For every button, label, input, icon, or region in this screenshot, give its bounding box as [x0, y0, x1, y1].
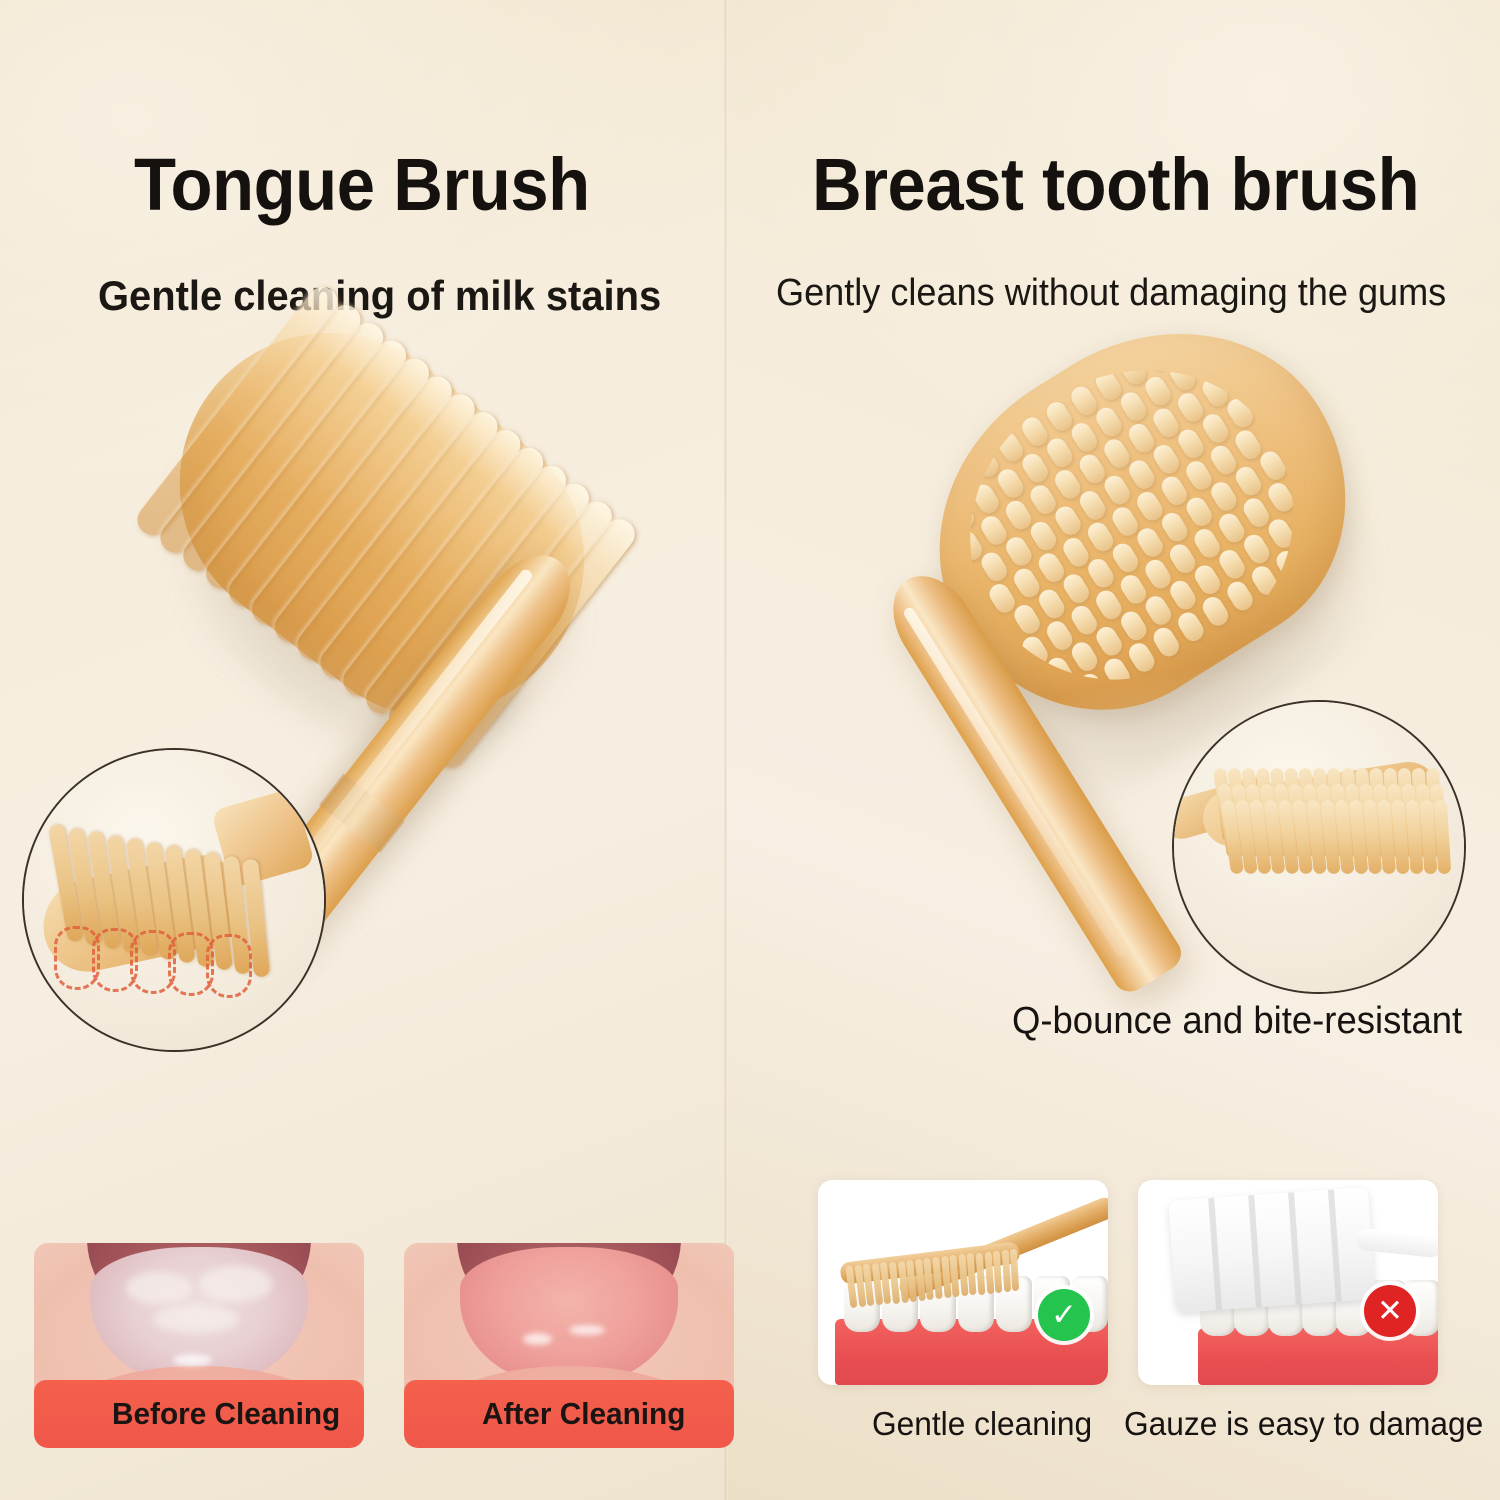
tooth-brush-bristle: [1174, 609, 1207, 645]
tooth-brush-bristle: [994, 465, 1027, 501]
tooth-brush-bristle: [1125, 457, 1158, 493]
gauze-fold: [1248, 1195, 1262, 1307]
tooth-brush-bristle: [1207, 478, 1240, 514]
tooth-brush-bristle: [1093, 404, 1126, 440]
gentle-cleaning-caption: Gentle cleaning: [872, 1405, 1092, 1443]
tooth-brush-bristle: [1093, 623, 1126, 659]
gauze-fold: [1288, 1192, 1302, 1304]
tooth-brush-bristle: [1240, 531, 1273, 567]
tooth-brush-bristle: [1183, 494, 1216, 530]
infographic-canvas: Tongue Brush Gentle cleaning of milk sta…: [0, 0, 1500, 1500]
tooth-brush-bristle: [1134, 525, 1167, 561]
tooth-brush-bristle: [1158, 509, 1191, 545]
before-cleaning-label: Before Cleaning: [112, 1396, 340, 1432]
tooth-brush-bristle: [1216, 546, 1249, 582]
lip-gloss-highlight: [173, 1354, 213, 1366]
tooth-brush-bristle: [1199, 593, 1232, 629]
tooth-brush-bristle: [1002, 533, 1035, 569]
tooth-brush-bristle: [1068, 639, 1101, 675]
gauze-damage-caption: Gauze is easy to damage: [1124, 1405, 1483, 1443]
tooth-brush-bristle: [1150, 624, 1183, 660]
gauze-cleaning-photo: ✕: [1138, 1180, 1438, 1385]
right-panel-title: Breast tooth brush: [812, 142, 1419, 227]
left-panel-title: Tongue Brush: [134, 142, 590, 227]
inset-dashed-outline: [206, 934, 252, 998]
q-bounce-caption: Q-bounce and bite-resistant: [1012, 1000, 1462, 1043]
tooth-brush-bristle: [1109, 540, 1142, 576]
tooth-brush-bristle: [1019, 450, 1052, 486]
tongue-coating: [199, 1266, 272, 1303]
right-panel-subtitle: Gently cleans without damaging the gums: [776, 272, 1446, 315]
tooth-brush-bristle: [1125, 639, 1158, 675]
gauze-pad: [1168, 1187, 1375, 1313]
tooth-brush-bristle: [1117, 389, 1150, 425]
tooth-brush-bristle: [978, 549, 1011, 585]
tooth-brush-bristle: [1175, 426, 1208, 462]
tooth-brush-bristle: [1142, 373, 1175, 409]
tooth-brush-bristle: [1117, 608, 1150, 644]
gentle-cleaning-photo: ✓: [818, 1180, 1108, 1385]
before-cleaning-photo: Before Cleaning: [34, 1243, 364, 1448]
tooth-brush-bristle: [1076, 487, 1109, 523]
check-icon: ✓: [1038, 1289, 1090, 1341]
after-cleaning-label: After Cleaning: [482, 1396, 685, 1432]
tooth-brush-bristle: [1035, 586, 1068, 622]
tooth-brush-bristle: [1043, 435, 1076, 471]
tooth-brush-bristle: [1011, 601, 1044, 637]
before-cleaning-label-bar: Before Cleaning: [34, 1380, 364, 1448]
tooth-brush-closeup-inset: [1172, 700, 1466, 994]
gauze-fold: [1208, 1198, 1222, 1310]
tooth-brush-bristle: [1060, 571, 1093, 607]
tooth-brush-bristle: [1166, 577, 1199, 613]
tooth-brush-bristle: [1052, 503, 1085, 539]
after-cleaning-label-bar: After Cleaning: [404, 1380, 734, 1448]
after-cleaning-photo: After Cleaning: [404, 1243, 734, 1448]
tooth-brush-bristle: [1224, 578, 1257, 614]
tongue-brush-closeup-inset: [22, 748, 326, 1052]
tongue-coating: [153, 1305, 239, 1334]
tooth-brush-bristle: [1101, 472, 1134, 508]
gum-line: [1198, 1328, 1438, 1385]
tooth-brush-bristle: [1084, 555, 1117, 591]
tooth-brush-bristle: [1232, 463, 1265, 499]
tooth-brush-bristle: [1027, 518, 1060, 554]
tooth-brush-bristle: [1199, 410, 1232, 446]
tooth-brush-bristle: [1068, 419, 1101, 455]
tooth-brush-bristle: [1191, 562, 1224, 598]
left-panel-subtitle: Gentle cleaning of milk stains: [98, 272, 661, 320]
cross-icon: ✕: [1364, 1285, 1416, 1337]
gauze-fold: [1328, 1190, 1342, 1302]
tooth-brush-bristle: [1150, 441, 1183, 477]
tooth-brush-bristle: [1142, 592, 1175, 628]
